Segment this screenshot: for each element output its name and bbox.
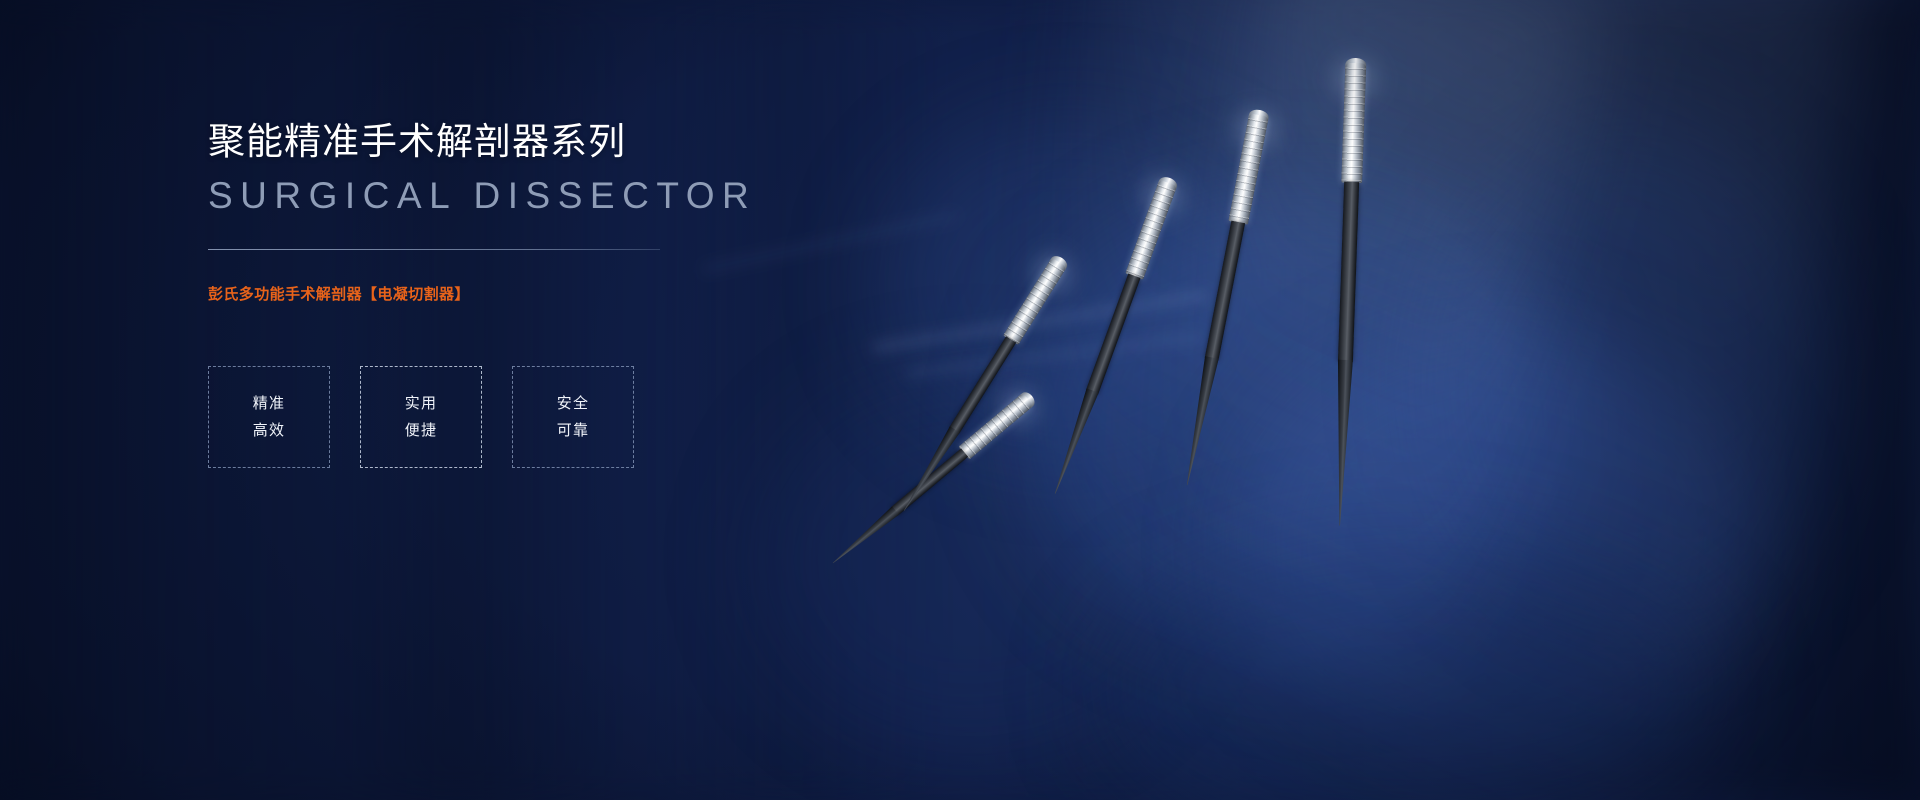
- title-divider: [208, 249, 660, 250]
- feature-box-3-line1: 安全: [557, 395, 589, 412]
- feature-box-1-line1: 精准: [253, 395, 285, 412]
- feature-box-2: 实用 便捷: [360, 366, 482, 468]
- feature-box-2-line1: 实用: [405, 395, 437, 412]
- product-subtitle: 彭氏多功能手术解剖器【电凝切割器】: [208, 284, 968, 306]
- banner-text-block: 聚能精准手术解剖器系列 SURGICAL DISSECTOR 彭氏多功能手术解剖…: [208, 118, 968, 306]
- product-banner: 聚能精准手术解剖器系列 SURGICAL DISSECTOR 彭氏多功能手术解剖…: [0, 0, 1920, 800]
- feature-box-1-line2: 高效: [253, 422, 285, 439]
- feature-box-2-line2: 便捷: [405, 422, 437, 439]
- feature-box-3: 安全 可靠: [512, 366, 634, 468]
- feature-box-1: 精准 高效: [208, 366, 330, 468]
- feature-box-3-line2: 可靠: [557, 422, 589, 439]
- page-title-english: SURGICAL DISSECTOR: [208, 172, 968, 220]
- feature-box-group: 精准 高效 实用 便捷 安全 可靠: [208, 366, 634, 468]
- page-title: 聚能精准手术解剖器系列: [208, 118, 968, 166]
